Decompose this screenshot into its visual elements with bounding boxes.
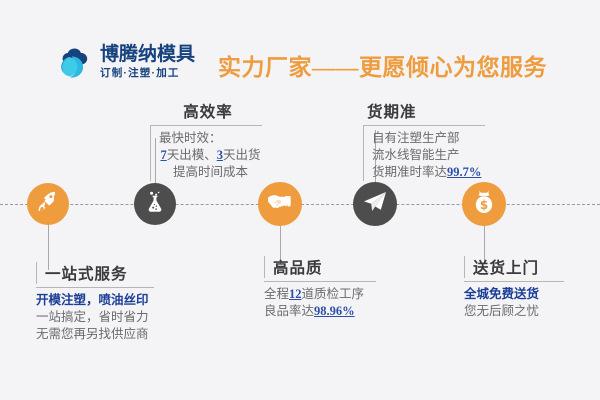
rocket-icon: [36, 190, 60, 219]
door-delivery-line2: 您无后顾之忧: [464, 303, 564, 320]
callout-delivery-accuracy: 货期准 自有注塑生产部 流水线智能生产 货期准时率达99.7%: [363, 100, 485, 181]
money-bag-icon: $: [471, 189, 497, 220]
brand-tagline: 订制·注塑·加工: [100, 68, 195, 79]
quality-line2: 良品率达98.96%: [264, 303, 376, 320]
callout-efficiency-body: 最快时效： 7天出模、3天出货 提高时间成本: [150, 126, 262, 181]
delivery-accuracy-rate: 99.7%: [447, 165, 481, 179]
callout-door-delivery-body: 全城免费送货 您无后顾之忧: [464, 282, 564, 320]
svg-text:$: $: [480, 198, 488, 212]
efficiency-line2-post: 天出货: [223, 148, 261, 162]
delivery-accuracy-line3-pre: 货期准时率达: [372, 165, 447, 179]
callout-efficiency-title: 高效率: [150, 100, 262, 122]
paper-plane-icon: [362, 189, 388, 220]
timeline-node-rocket[interactable]: [27, 183, 69, 225]
quality-line2-pre: 良品率达: [264, 304, 314, 318]
brand-name: 博腾纳模具: [100, 45, 195, 64]
callout-efficiency-line2: 7天出模、3天出货: [159, 147, 262, 164]
brand-logo: 博腾纳模具 订制·注塑·加工: [60, 45, 195, 79]
one-stop-line3: 无需您再另找供应商: [36, 326, 154, 343]
callout-one-stop: 一站式服务 开模注塑，喷油丝印 一站搞定，省时省力 无需您再另找供应商: [36, 262, 154, 343]
delivery-accuracy-line2: 流水线智能生产: [372, 147, 485, 164]
flask-icon: [143, 190, 167, 219]
door-delivery-line1: 全城免费送货: [464, 286, 564, 303]
timeline-node-paper-plane[interactable]: [353, 182, 397, 226]
one-stop-line2: 一站搞定，省时省力: [36, 309, 154, 326]
quality-inspection-steps: 12: [289, 287, 302, 301]
callout-door-delivery-title: 送货上门: [464, 256, 564, 278]
timeline-node-handshake[interactable]: [258, 182, 302, 226]
timeline-node-money-bag[interactable]: $: [462, 182, 506, 226]
callout-quality-title: 高品质: [264, 256, 376, 278]
callout-quality-body: 全程12道质检工序 良品率达98.96%: [264, 282, 376, 320]
callout-quality: 高品质 全程12道质检工序 良品率达98.96%: [264, 256, 376, 320]
page-headline: 实力厂家——更愿倾心为您服务: [218, 48, 547, 82]
delivery-accuracy-line1: 自有注塑生产部: [372, 130, 485, 147]
quality-line1-post: 道质检工序: [302, 287, 365, 301]
one-stop-line1: 开模注塑，喷油丝印: [36, 292, 154, 309]
quality-line1-pre: 全程: [264, 287, 289, 301]
cloud-swoosh-logo-icon: [60, 46, 94, 78]
callout-one-stop-title: 一站式服务: [36, 262, 154, 284]
timeline-node-flask[interactable]: [134, 183, 176, 225]
brand-text: 博腾纳模具 订制·注塑·加工: [100, 45, 195, 79]
delivery-accuracy-line3: 货期准时率达99.7%: [372, 164, 485, 181]
banner-canvas: 博腾纳模具 订制·注塑·加工 实力厂家——更愿倾心为您服务: [0, 0, 600, 400]
quality-line1: 全程12道质检工序: [264, 286, 376, 303]
efficiency-line2-mid: 天出模、: [167, 148, 217, 162]
callout-one-stop-body: 开模注塑，喷油丝印 一站搞定，省时省力 无需您再另找供应商: [36, 288, 154, 343]
handshake-icon: [266, 188, 294, 221]
callout-efficiency-line1: 最快时效：: [159, 130, 262, 147]
callout-door-delivery: 送货上门 全城免费送货 您无后顾之忧: [464, 256, 564, 320]
callout-efficiency: 高效率 最快时效： 7天出模、3天出货 提高时间成本: [150, 100, 262, 181]
callout-efficiency-line3: 提高时间成本: [159, 164, 262, 181]
callout-delivery-accuracy-body: 自有注塑生产部 流水线智能生产 货期准时率达99.7%: [363, 126, 485, 181]
callout-delivery-accuracy-title: 货期准: [363, 100, 485, 122]
quality-yield-rate: 98.96%: [314, 304, 355, 318]
